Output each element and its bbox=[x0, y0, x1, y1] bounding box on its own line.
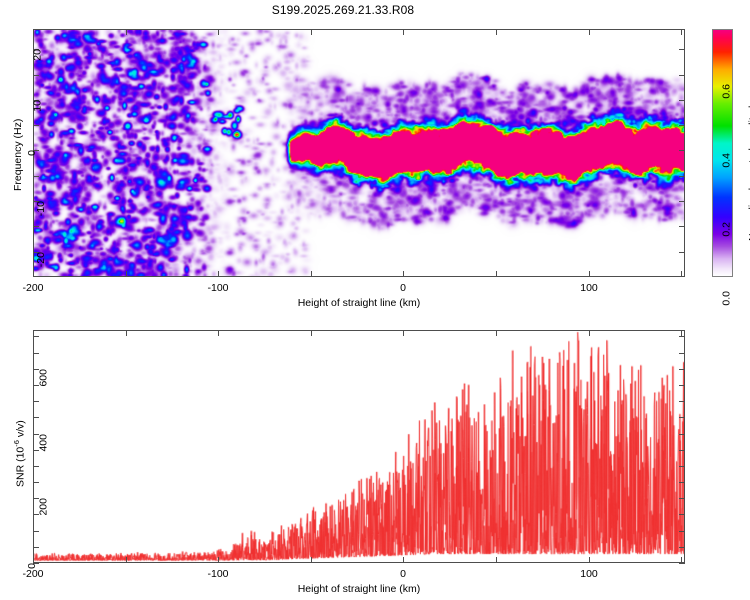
y-axis-tick bbox=[33, 176, 39, 177]
snr-ylabel-main: SNR (10 bbox=[15, 446, 27, 486]
colorbar-tick-label: 0.0 bbox=[721, 291, 733, 306]
y-axis-tick bbox=[33, 466, 39, 467]
y-axis-tick bbox=[33, 482, 39, 483]
y-axis-tick bbox=[679, 401, 685, 402]
snr-ylabel-exponent: -6 bbox=[12, 440, 21, 447]
y-tick-label: 0 bbox=[26, 150, 38, 156]
x-axis-tick bbox=[403, 271, 404, 277]
y-axis-tick bbox=[679, 434, 685, 435]
x-axis-tick bbox=[126, 29, 127, 35]
y-axis-tick bbox=[33, 75, 39, 76]
y-axis-tick bbox=[679, 75, 685, 76]
y-axis-tick bbox=[679, 466, 685, 467]
x-tick-label: 0 bbox=[400, 568, 406, 580]
y-axis-tick bbox=[679, 100, 685, 101]
x-axis-tick bbox=[311, 557, 312, 563]
figure-title: S199.2025.269.21.33.R08 bbox=[0, 3, 686, 17]
figure-root: S199.2025.269.21.33.R08 -200-1000100-20-… bbox=[0, 0, 750, 600]
y-axis-tick bbox=[679, 176, 685, 177]
y-tick-label: 200 bbox=[38, 498, 50, 516]
y-axis-tick bbox=[679, 498, 685, 499]
y-axis-tick bbox=[33, 336, 39, 337]
x-axis-tick bbox=[496, 29, 497, 35]
x-tick-label: -100 bbox=[207, 568, 228, 580]
y-axis-tick bbox=[679, 201, 685, 202]
x-axis-tick bbox=[496, 557, 497, 563]
x-axis-tick bbox=[589, 330, 590, 336]
x-axis-tick bbox=[126, 330, 127, 336]
y-axis-tick bbox=[33, 547, 39, 548]
y-tick-label: 0 bbox=[26, 563, 38, 569]
x-axis-tick bbox=[589, 557, 590, 563]
x-axis-tick bbox=[126, 557, 127, 563]
y-axis-tick bbox=[679, 514, 685, 515]
y-axis-tick bbox=[679, 385, 685, 386]
x-axis-tick bbox=[218, 330, 219, 336]
y-tick-label: 600 bbox=[38, 369, 50, 387]
y-tick-label: -20 bbox=[35, 252, 47, 267]
spectrogram-yaxis-label: Frequency (Hz) bbox=[12, 119, 24, 191]
x-axis-tick bbox=[681, 29, 682, 35]
x-axis-tick bbox=[403, 29, 404, 35]
x-axis-tick bbox=[589, 29, 590, 35]
y-axis-tick bbox=[679, 563, 685, 564]
y-axis-tick bbox=[679, 482, 685, 483]
x-axis-tick bbox=[311, 29, 312, 35]
spectrogram-image bbox=[34, 30, 684, 276]
x-axis-tick bbox=[311, 271, 312, 277]
x-axis-tick bbox=[589, 271, 590, 277]
y-axis-tick bbox=[33, 401, 39, 402]
x-axis-tick bbox=[218, 29, 219, 35]
y-axis-tick bbox=[679, 150, 685, 151]
x-axis-tick bbox=[126, 271, 127, 277]
y-axis-tick bbox=[33, 417, 39, 418]
x-tick-label: 0 bbox=[400, 282, 406, 294]
y-axis-tick bbox=[679, 252, 685, 253]
x-tick-label: -100 bbox=[207, 282, 228, 294]
y-tick-label: 20 bbox=[32, 49, 44, 61]
y-axis-tick bbox=[679, 450, 685, 451]
x-tick-label: -200 bbox=[22, 282, 43, 294]
colorbar-tick-label: 0.2 bbox=[721, 222, 733, 237]
y-axis-tick bbox=[679, 49, 685, 50]
x-tick-label: -200 bbox=[22, 568, 43, 580]
snr-yaxis-label: SNR (10-6 v/v) bbox=[12, 420, 27, 487]
y-axis-tick bbox=[33, 531, 39, 532]
y-axis-tick bbox=[33, 226, 39, 227]
x-axis-tick bbox=[681, 271, 682, 277]
x-axis-tick bbox=[496, 271, 497, 277]
y-tick-label: 10 bbox=[32, 100, 44, 112]
y-axis-tick bbox=[679, 531, 685, 532]
y-axis-tick bbox=[679, 547, 685, 548]
y-axis-tick bbox=[33, 125, 39, 126]
x-axis-tick bbox=[403, 557, 404, 563]
x-tick-label: 100 bbox=[580, 568, 598, 580]
snr-trace bbox=[34, 331, 684, 562]
y-tick-label: -10 bbox=[35, 201, 47, 216]
x-axis-tick bbox=[33, 271, 34, 277]
colorbar-tick-label: 0.6 bbox=[721, 84, 733, 99]
y-axis-tick bbox=[33, 353, 39, 354]
y-axis-tick bbox=[679, 353, 685, 354]
spectrogram-plot-area bbox=[33, 29, 685, 277]
snr-xaxis-label: Height of straight line (km) bbox=[298, 583, 421, 595]
snr-plot-area bbox=[33, 330, 685, 563]
x-axis-tick bbox=[311, 330, 312, 336]
y-axis-tick bbox=[679, 369, 685, 370]
x-axis-tick bbox=[218, 271, 219, 277]
x-axis-tick bbox=[496, 330, 497, 336]
y-axis-tick bbox=[679, 336, 685, 337]
x-tick-label: 100 bbox=[580, 282, 598, 294]
x-axis-tick bbox=[403, 330, 404, 336]
colorbar-tick-label: 0.4 bbox=[721, 153, 733, 168]
spectrogram-xaxis-label: Height of straight line (km) bbox=[298, 297, 421, 309]
x-axis-tick bbox=[218, 557, 219, 563]
y-axis-tick bbox=[679, 417, 685, 418]
y-tick-label: 400 bbox=[38, 434, 50, 452]
snr-ylabel-tail: v/v) bbox=[15, 420, 27, 440]
y-axis-tick bbox=[679, 226, 685, 227]
y-axis-tick bbox=[679, 125, 685, 126]
x-axis-tick bbox=[33, 29, 34, 35]
